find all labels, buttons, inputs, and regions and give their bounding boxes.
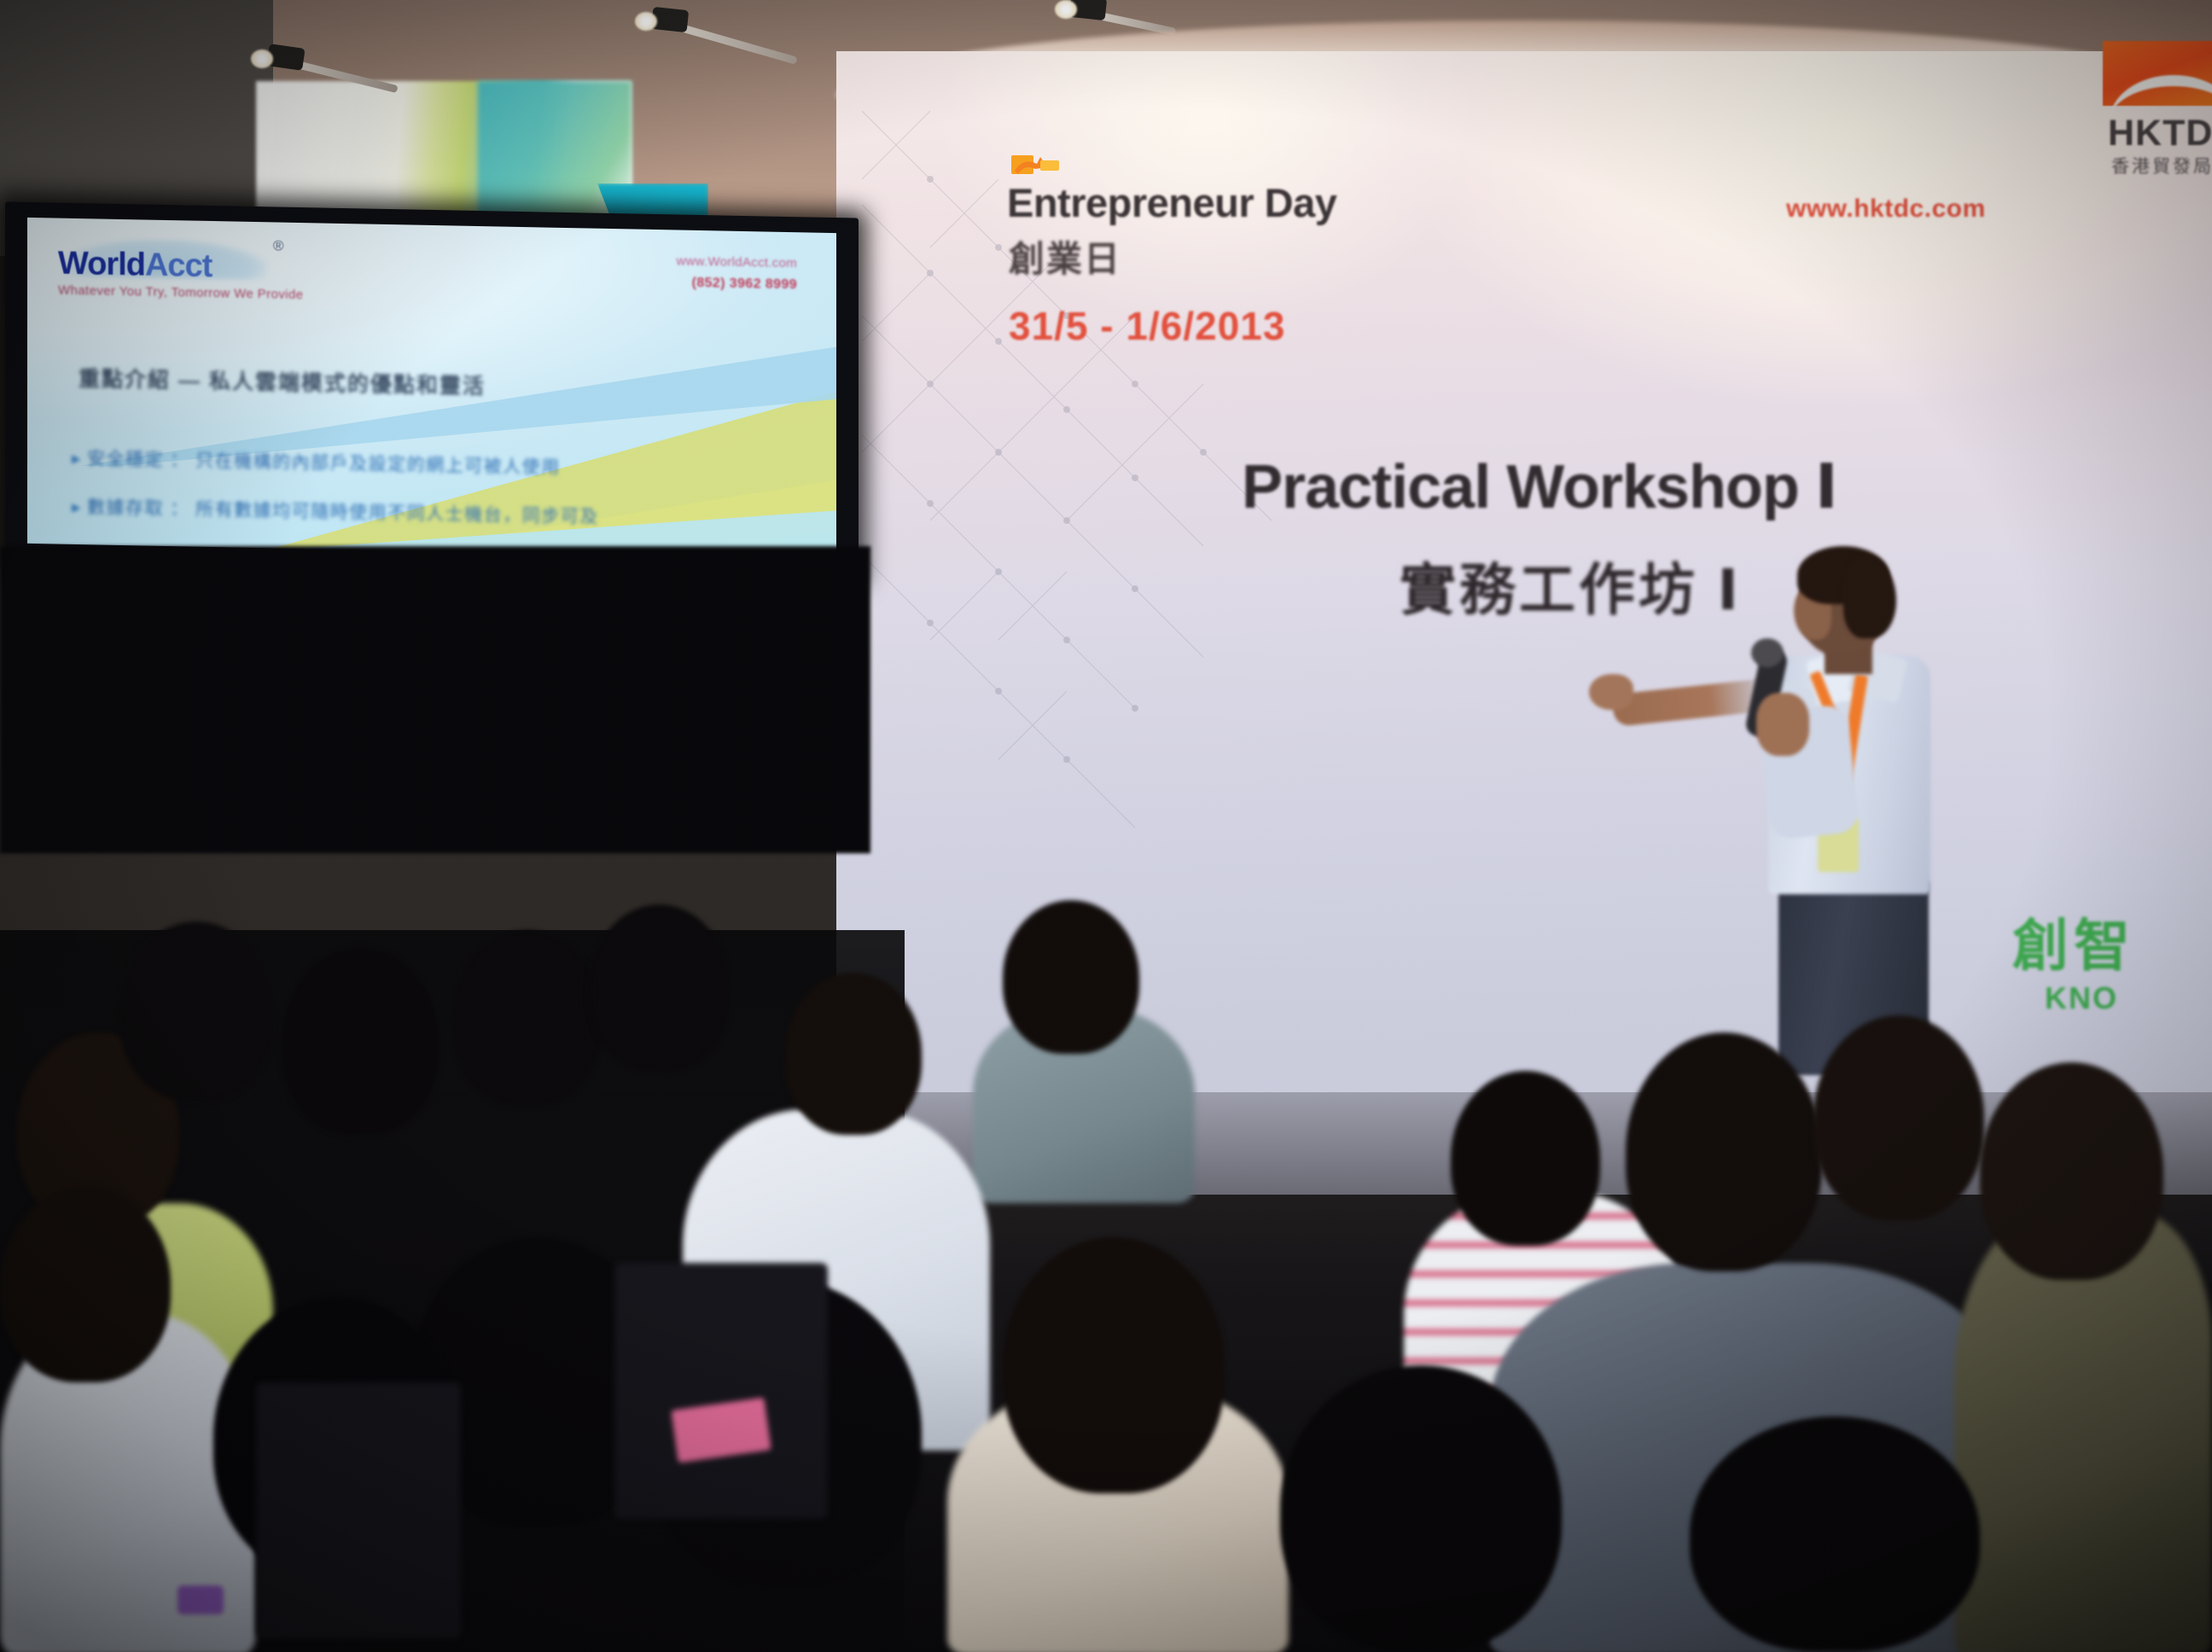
projection-screen: WorldAcct ® Whatever You Try, Tomorrow W… [5,201,859,576]
slide-brand-tagline: Whatever You Try, Tomorrow We Provide [58,283,303,303]
chair-back [256,1382,461,1638]
audience-head [589,905,730,1071]
speaker-presenter [1715,546,1971,1075]
audience-head [119,922,273,1101]
audience-head [1003,900,1139,1054]
bullet-marker-icon: ▸ [72,449,82,468]
event-title-en: Entrepreneur Day [1007,179,1336,226]
slide-title: 重點介紹 — 私人雲端模式的優點和靈活 [79,362,486,400]
slide-bullet-text: 安全穩定 ： 只在機構的內部戶及設定的網上可被人使用 [87,449,561,478]
audience-head [785,973,922,1135]
audience-head [0,1186,171,1382]
audience-head [1626,1032,1822,1271]
sponsor-logo-zh: 創智 [2012,917,2135,974]
organizer-url: www.hktdc.com [1786,195,1986,224]
speaker-mic-hand [1756,693,1809,756]
audience-head [1690,1416,1980,1652]
event-dates: 31/5 - 1/6/2013 [1009,303,1285,349]
slide-contact-url: www.WorldAcct.com [676,254,797,271]
slide-bullet-text: 數據存取 ： 所有數據均可隨時使用不同人士機台，同步可及 [87,497,599,527]
entrepreneur-day-logo-mark-icon [1011,152,1061,181]
hktdc-wordmark: HKTDC [2108,113,2212,154]
slide-brand-word-primary: World [58,246,145,283]
event-title-zh: 創業日 [1009,230,1121,282]
slide-brand-wordmark: WorldAcct [58,247,303,285]
bullet-marker-icon: ▸ [72,497,82,517]
session-title-zh: 實務工作坊 Ⅰ [1400,544,1742,626]
audience-head [1280,1365,1562,1652]
screen-skirt [0,546,870,853]
phone-screen-glow [178,1585,224,1614]
slide-contact-tel: (852) 3962 8999 [676,276,797,294]
audience-head [1003,1237,1225,1493]
speaker-pointing-hand [1589,674,1633,710]
chair-back [614,1263,828,1519]
slide-contact-block: www.WorldAcct.com (852) 3962 8999 [676,254,797,294]
slide-bullet: ▸安全穩定 ： 只在機構的內部戶及設定的網上可被人使用 [72,445,561,480]
audience-head [1451,1071,1600,1246]
audience-head [282,947,439,1135]
audience-head [452,930,602,1105]
photo-scene: Entrepreneur Day 創業日 31/5 - 1/6/2013 www… [0,0,2212,1652]
microphone-head-icon [1751,638,1784,667]
hktdc-logo: HKTDC 香港貿發局 [2103,41,2212,169]
sponsor-logo: 創智 KNO [2012,917,2135,1016]
audience-head [1980,1062,2163,1280]
session-title-en: Practical Workshop Ⅰ [1242,451,1837,522]
projected-slide: WorldAcct ® Whatever You Try, Tomorrow W… [27,218,836,559]
hktdc-wordmark-zh: 香港貿發局 [2111,153,2212,178]
slide-brand-word-secondary: Acct [145,247,212,285]
audience-head [1813,1015,1984,1220]
sponsor-logo-en: KNO [2045,980,2135,1016]
registered-mark-icon: ® [273,237,284,254]
slide-brand-logo: WorldAcct ® Whatever You Try, Tomorrow W… [58,247,303,303]
